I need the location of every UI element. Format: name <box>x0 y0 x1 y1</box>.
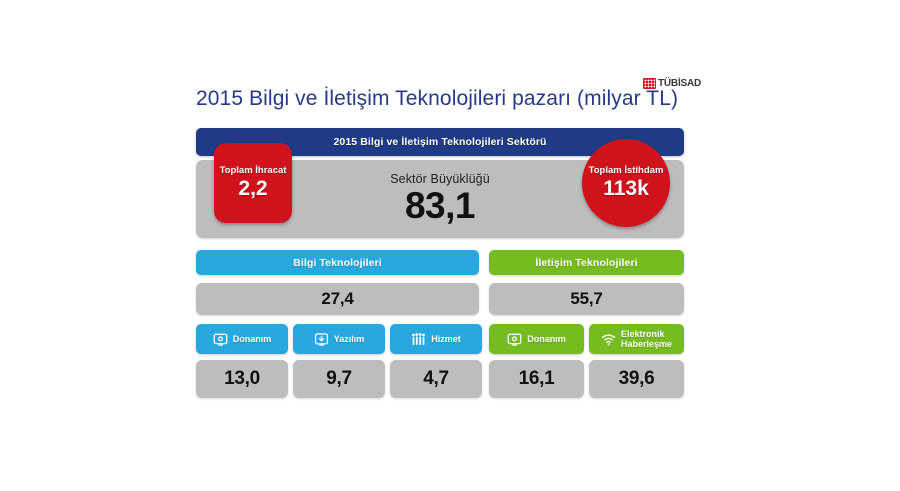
category-bilgi-teknolojileri[interactable]: Bilgi Teknolojileri <box>196 250 479 275</box>
infographic-canvas: 2015 Bilgi ve İletişim Teknolojileri paz… <box>0 0 900 491</box>
tubisad-logo-text: TÜBİSAD <box>658 78 701 89</box>
badge-toplam-istihdam-label: Toplam İstihdam <box>589 165 664 176</box>
subvalue-bt-hizmet: 4,7 <box>390 360 482 398</box>
badge-toplam-ihracat-label: Toplam İhracat <box>220 165 287 176</box>
chip-bt-donanim-label: Donanım <box>233 334 272 345</box>
tubisad-logo: TÜBİSAD <box>643 76 701 90</box>
subcategory-value-row: 13,0 9,7 4,7 16,1 39,6 <box>196 360 684 398</box>
tubisad-logo-mark-icon <box>643 78 656 89</box>
subvalue-bt-donanim: 13,0 <box>196 360 288 398</box>
monitor-icon <box>507 332 522 347</box>
category-value-iletisim-teknolojileri: 55,7 <box>489 283 684 315</box>
chip-bt-donanim[interactable]: Donanım <box>196 324 288 354</box>
sector-board: 2015 Bilgi ve İletişim Teknolojileri Sek… <box>196 128 684 400</box>
subvalue-bt-yazilim-text: 9,7 <box>326 368 352 390</box>
category-iletisim-teknolojileri-label: İletişim Teknolojileri <box>535 257 637 269</box>
subvalue-bt-yazilim: 9,7 <box>293 360 385 398</box>
subcategory-chip-row: Donanım Yazılım <box>196 324 684 354</box>
chip-bt-yazilim-label: Yazılım <box>334 334 365 345</box>
category-iletisim-teknolojileri[interactable]: İletişim Teknolojileri <box>489 250 684 275</box>
people-group-icon <box>411 332 426 347</box>
category-row: Bilgi Teknolojileri İletişim Teknolojile… <box>196 250 684 275</box>
subvalue-bt-donanim-text: 13,0 <box>224 368 260 390</box>
subvalue-ct-donanim-text: 16,1 <box>519 368 555 390</box>
category-value-bilgi-teknolojileri: 27,4 <box>196 283 479 315</box>
category-value-row: 27,4 55,7 <box>196 283 684 315</box>
title-row: 2015 Bilgi ve İletişim Teknolojileri paz… <box>196 82 716 116</box>
subvalue-ct-donanim: 16,1 <box>489 360 584 398</box>
page-title: 2015 Bilgi ve İletişim Teknolojileri paz… <box>196 87 678 111</box>
chip-ct-elektronik-haberlesme-label: Elektronik Haberleşme <box>621 329 672 350</box>
monitor-icon <box>213 332 228 347</box>
wifi-icon <box>601 332 616 347</box>
badge-toplam-istihdam: Toplam İstihdam 113k <box>582 139 670 227</box>
sector-header-label: 2015 Bilgi ve İletişim Teknolojileri Sek… <box>333 136 546 148</box>
software-download-icon <box>314 332 329 347</box>
category-value-bilgi-teknolojileri-text: 27,4 <box>321 289 353 309</box>
subvalue-ct-elektronik-text: 39,6 <box>619 368 655 390</box>
category-bilgi-teknolojileri-label: Bilgi Teknolojileri <box>293 257 382 269</box>
chip-bt-hizmet[interactable]: Hizmet <box>390 324 482 354</box>
badge-toplam-ihracat-value: 2,2 <box>238 177 267 201</box>
badge-toplam-ihracat: Toplam İhracat 2,2 <box>214 143 292 223</box>
badge-toplam-istihdam-value: 113k <box>603 177 649 201</box>
chip-bt-hizmet-label: Hizmet <box>431 334 461 345</box>
subvalue-bt-hizmet-text: 4,7 <box>423 368 449 390</box>
chip-ct-donanim[interactable]: Donanım <box>489 324 584 354</box>
chip-bt-yazilim[interactable]: Yazılım <box>293 324 385 354</box>
subvalue-ct-elektronik: 39,6 <box>589 360 684 398</box>
chip-ct-donanim-label: Donanım <box>527 334 566 345</box>
category-value-iletisim-teknolojileri-text: 55,7 <box>570 289 602 309</box>
chip-ct-elektronik-haberlesme[interactable]: Elektronik Haberleşme <box>589 324 684 354</box>
